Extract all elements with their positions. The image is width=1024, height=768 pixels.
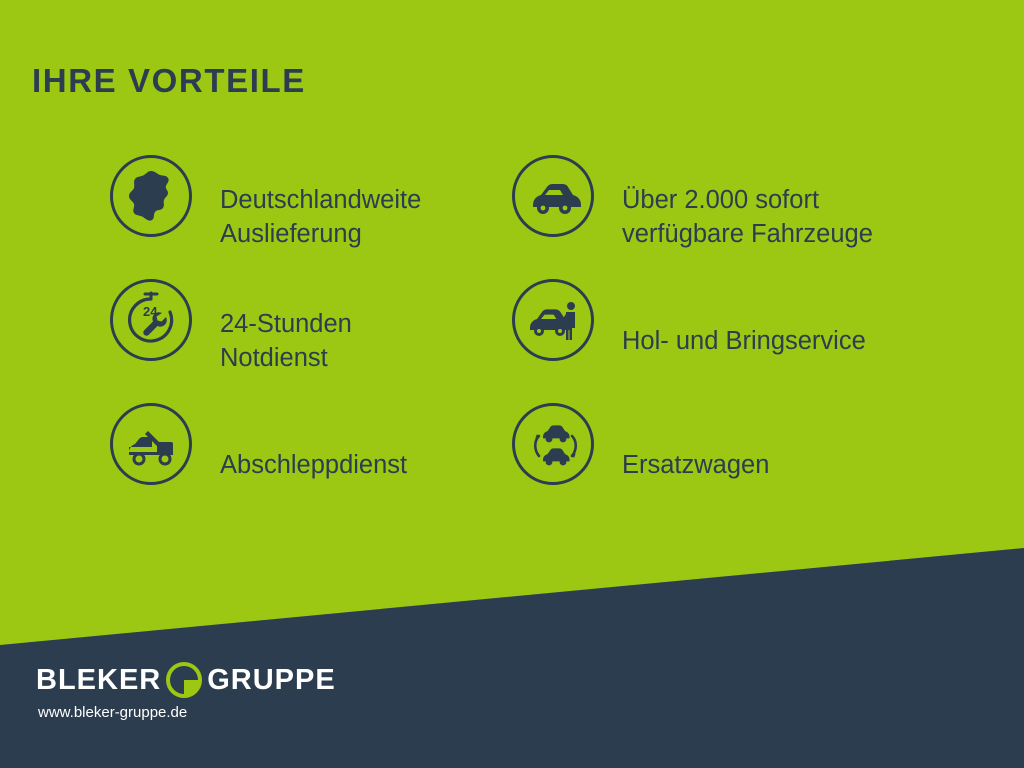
logo-text-gruppe: GRUPPE bbox=[207, 664, 335, 697]
bleker-circle-logo-icon bbox=[163, 660, 205, 700]
page-title: IHRE VORTEILE bbox=[32, 62, 306, 100]
feature-item: 24 24-Stunden Notdienst bbox=[110, 279, 510, 403]
bleker-gruppe-logo: BLEKER GRUPPE bbox=[36, 660, 336, 700]
feature-label: Ersatzwagen bbox=[622, 448, 769, 482]
feature-label: Deutschlandweite Auslieferung bbox=[220, 183, 421, 251]
features-column-left: Deutschlandweite Auslieferung 24 24-Stun… bbox=[110, 155, 510, 527]
feature-item: Abschleppdienst bbox=[110, 403, 510, 527]
car-icon bbox=[512, 155, 594, 237]
two-cars-exchange-icon bbox=[512, 403, 594, 485]
website-url: www.bleker-gruppe.de bbox=[38, 704, 187, 721]
slide: IHRE VORTEILE Deutschlandweite Ausliefer… bbox=[0, 0, 1024, 768]
feature-item: Ersatzwagen bbox=[512, 403, 972, 527]
feature-label: Hol- und Bringservice bbox=[622, 324, 866, 358]
logo-text-bleker: BLEKER bbox=[36, 664, 161, 697]
car-with-person-icon bbox=[512, 279, 594, 361]
feature-label: Abschleppdienst bbox=[220, 448, 407, 482]
feature-item: Über 2.000 sofort verfügbare Fahrzeuge bbox=[512, 155, 972, 279]
germany-map-icon bbox=[110, 155, 192, 237]
tow-truck-icon bbox=[110, 403, 192, 485]
feature-item: Deutschlandweite Auslieferung bbox=[110, 155, 510, 279]
24-hour-service-icon: 24 bbox=[110, 279, 192, 361]
features-column-right: Über 2.000 sofort verfügbare Fahrzeuge bbox=[512, 155, 972, 527]
feature-item: Hol- und Bringservice bbox=[512, 279, 972, 403]
footer: BLEKER GRUPPE www.bleker-gruppe.de bbox=[0, 628, 1024, 768]
feature-label: Über 2.000 sofort verfügbare Fahrzeuge bbox=[622, 183, 873, 251]
feature-label: 24-Stunden Notdienst bbox=[220, 307, 352, 375]
